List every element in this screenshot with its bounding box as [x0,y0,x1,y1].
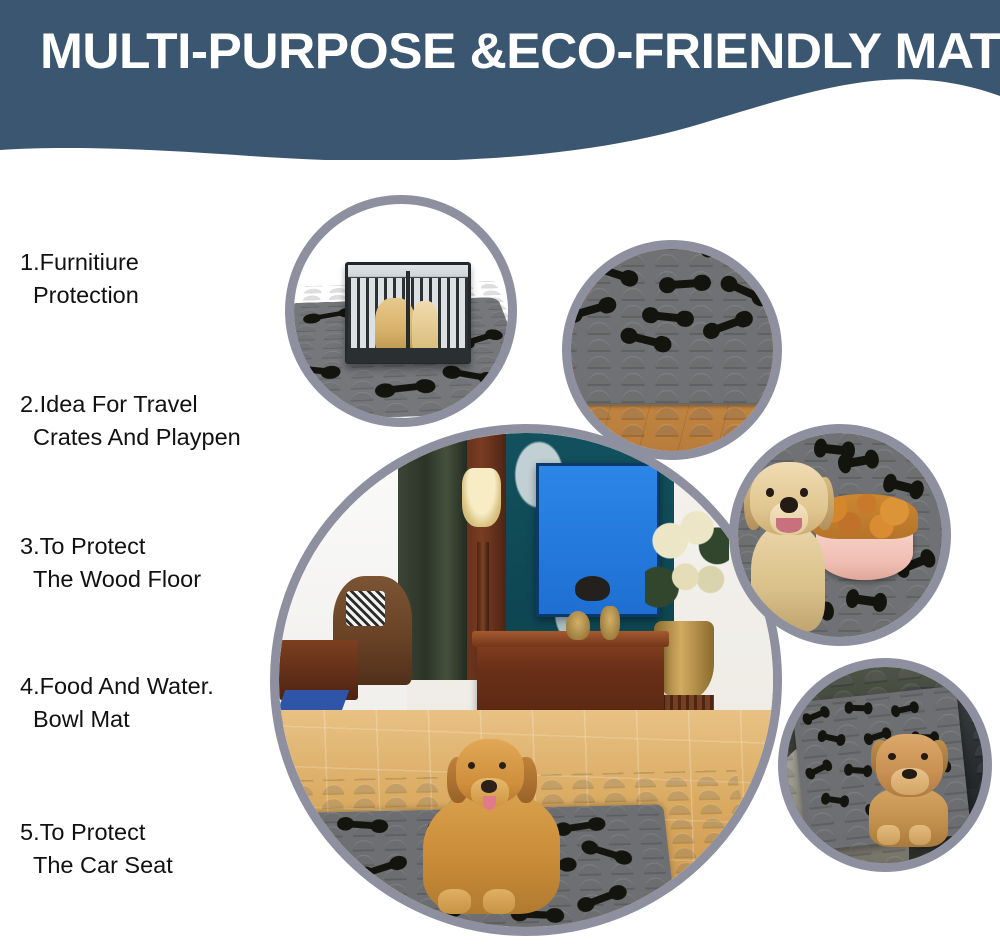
feature-number-2: 2. [20,391,40,417]
dog-paw [877,825,899,845]
dog-nose [481,780,497,792]
dog-eye [766,488,774,496]
dog-in-crate-rear [412,301,438,351]
dog-eye [888,753,896,760]
feature-line2-1: Protection [20,279,300,312]
dog-crate [345,262,471,364]
dog-paw [909,825,931,845]
bone-print [666,279,702,290]
flower-arrangement [645,502,729,630]
dog-eye [921,753,929,760]
photo-circle-living-room [270,424,782,936]
dog-paw [483,889,516,914]
photo-circle-food-bowl [729,424,951,646]
dog-eye [800,488,808,496]
page-title: MULTI-PURPOSE &ECO-FRIENDLY MAT [40,22,1000,80]
feature-line1-5: To Protect [40,819,146,845]
feature-line1-2: Idea For Travel [40,391,198,417]
product-infographic: MULTI-PURPOSE &ECO-FRIENDLY MAT 1.Furnit… [0,0,1000,946]
feature-line1-4: Food And Water. [40,673,214,699]
chair-cushion [346,591,386,626]
feature-item-2: 2.Idea For Travel Crates And Playpen [20,388,300,454]
feature-number-1: 1. [20,249,40,275]
feature-number-4: 4. [20,673,40,699]
puppy-dog [865,734,951,848]
dog-nose [902,769,918,779]
feature-item-3: 3.To Protect The Wood Floor [20,530,300,596]
photo-circle-car-seat [778,658,992,872]
crate-divider [406,271,410,356]
feature-item-4: 4.Food And Water. Bowl Mat [20,670,300,736]
feature-line2-5: The Car Seat [20,849,300,882]
dog-body [751,525,824,632]
crate-base [346,348,471,363]
photo-circle-crate [285,195,517,427]
header-banner: MULTI-PURPOSE &ECO-FRIENDLY MAT [0,0,1000,160]
decor-object [575,576,610,601]
feature-line2-2: Crates And Playpen [20,421,300,454]
feature-line1-3: To Protect [40,533,146,559]
photo-circle-wood-floor [562,240,782,460]
mat-surface-corner [571,249,773,403]
brass-ornament [600,606,620,641]
golden-retriever-dog [417,739,565,917]
table-lamp [462,468,502,527]
feature-item-5: 5.To Protect The Car Seat [20,816,300,882]
dog-paw [438,889,471,914]
golden-retriever-dog [742,462,836,629]
bone-print [848,705,868,712]
feature-number-5: 5. [20,819,40,845]
brass-ornament [566,611,591,641]
feature-line2-3: The Wood Floor [20,563,300,596]
bone-print [344,820,380,829]
feature-item-1: 1.Furnitiure Protection [20,246,300,312]
feature-line1-1: Furnitiure [40,249,139,275]
feature-line2-4: Bowl Mat [20,703,300,736]
dog-tongue [483,796,496,810]
feature-number-3: 3. [20,533,40,559]
